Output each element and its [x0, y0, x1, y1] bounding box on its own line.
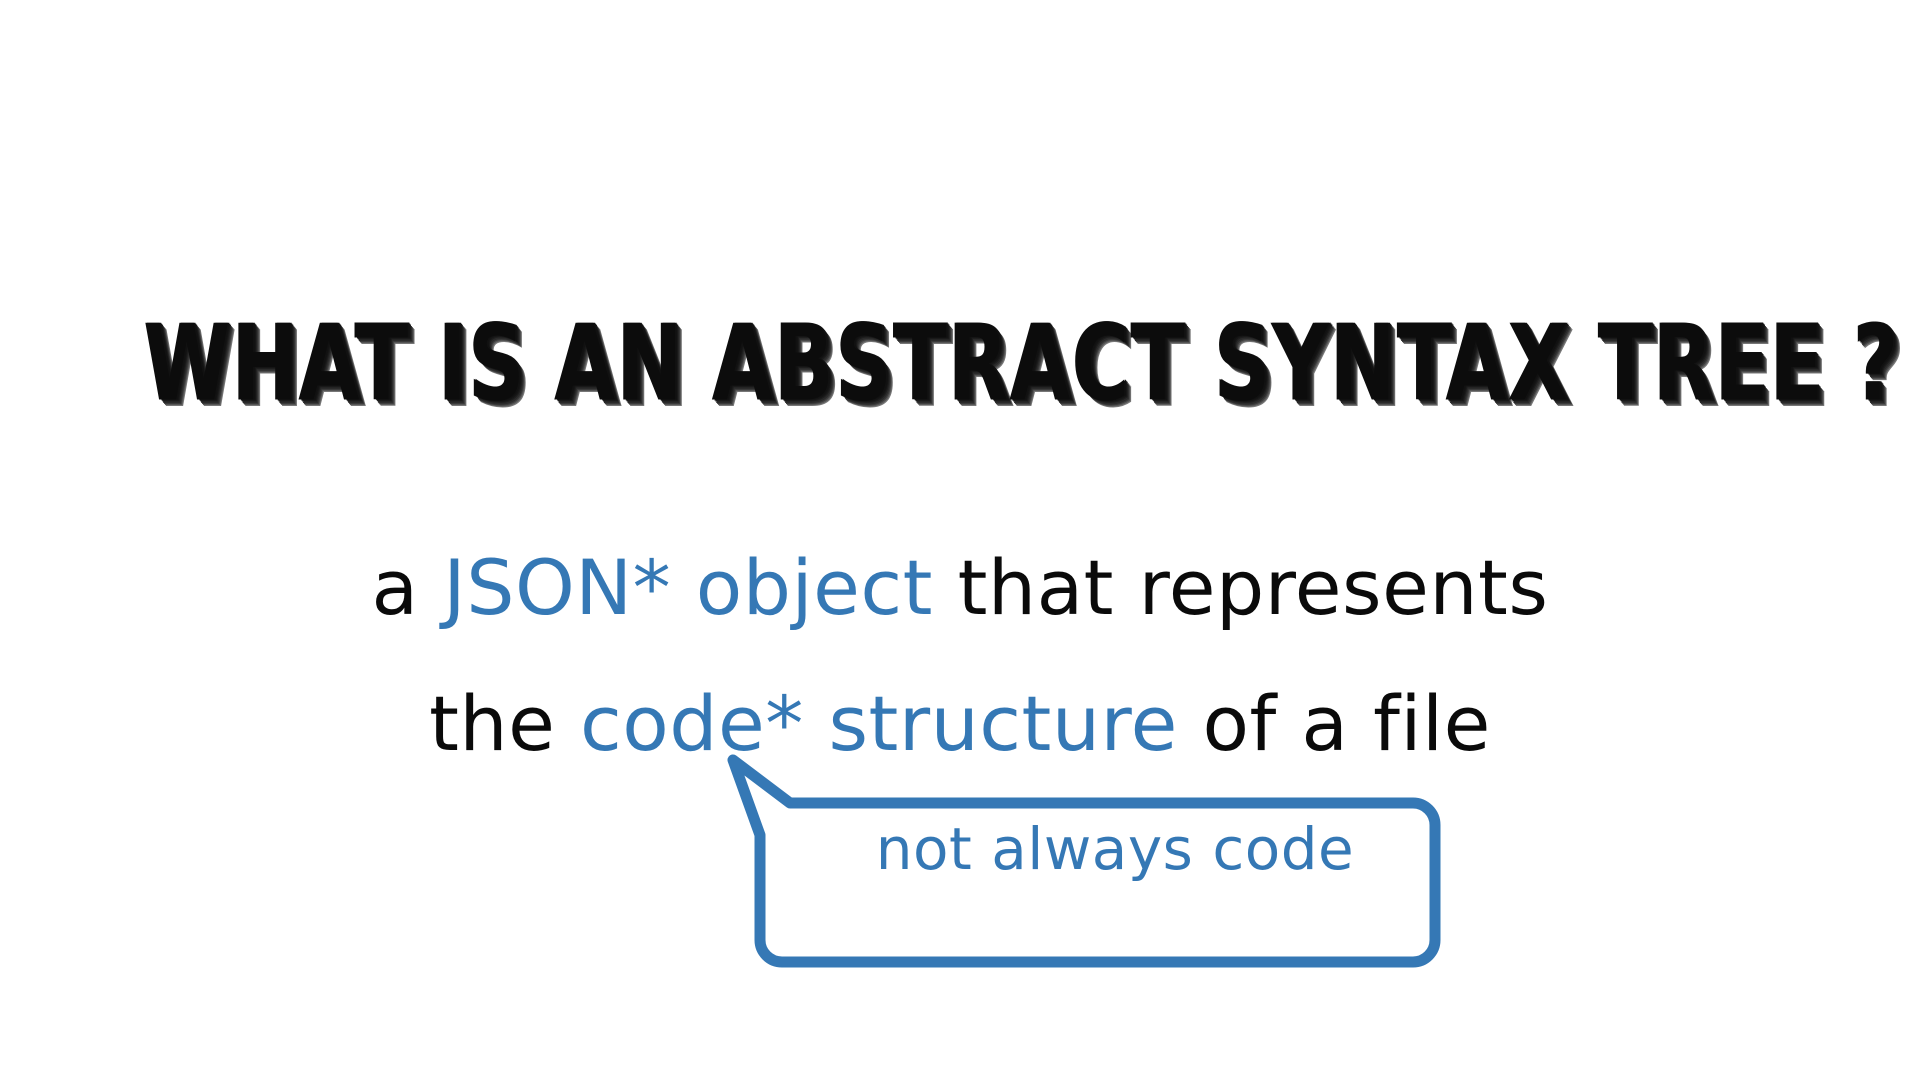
body-line-1-segment-1: a [372, 543, 444, 632]
body-line-1-segment-3: that represents [933, 543, 1548, 632]
body-line-1: a JSON* object that represents [0, 520, 1920, 656]
body-line-2-segment-1: the [429, 679, 580, 768]
body-line-1-highlight: JSON* object [443, 543, 933, 632]
callout-bubble: not always code [700, 735, 1480, 1005]
page-title-container: WHAT IS AN ABSTRACT SYNTAX TREE ? [0, 318, 1920, 410]
callout-label: not always code [790, 813, 1440, 885]
slide-canvas: WHAT IS AN ABSTRACT SYNTAX TREE ? a JSON… [0, 0, 1920, 1080]
page-title: WHAT IS AN ABSTRACT SYNTAX TREE ? [143, 312, 1899, 417]
